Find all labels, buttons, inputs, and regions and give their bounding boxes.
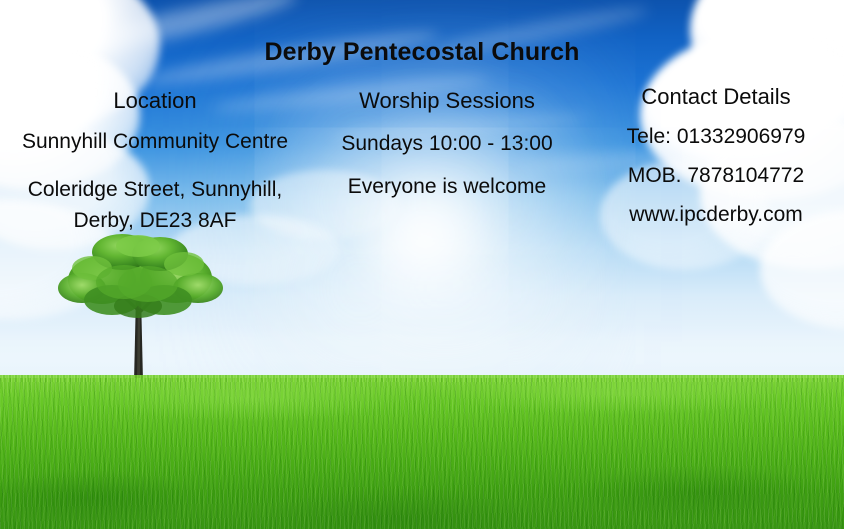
location-column: Location Sunnyhill Community Centre Cole…: [0, 88, 310, 236]
contact-column: Contact Details Tele: 01332906979 MOB. 7…: [588, 84, 844, 227]
text-overlay: Derby Pentecostal Church Location Sunnyh…: [0, 0, 844, 529]
contact-website[interactable]: www.ipcderby.com: [588, 203, 844, 227]
church-poster: Derby Pentecostal Church Location Sunnyh…: [0, 0, 844, 529]
location-address-line2: Derby, DE23 8AF: [0, 205, 310, 236]
page-title: Derby Pentecostal Church: [0, 38, 844, 67]
contact-heading: Contact Details: [588, 84, 844, 110]
worship-column: Worship Sessions Sundays 10:00 - 13:00 E…: [318, 88, 576, 199]
location-venue: Sunnyhill Community Centre: [0, 130, 310, 154]
location-address-line1: Coleridge Street, Sunnyhill,: [0, 174, 310, 205]
contact-mobile: MOB. 7878104772: [588, 164, 844, 188]
contact-telephone: Tele: 01332906979: [588, 125, 844, 149]
worship-heading: Worship Sessions: [318, 88, 576, 114]
worship-invitation: Everyone is welcome: [318, 175, 576, 199]
worship-times: Sundays 10:00 - 13:00: [318, 132, 576, 156]
location-heading: Location: [0, 88, 310, 114]
